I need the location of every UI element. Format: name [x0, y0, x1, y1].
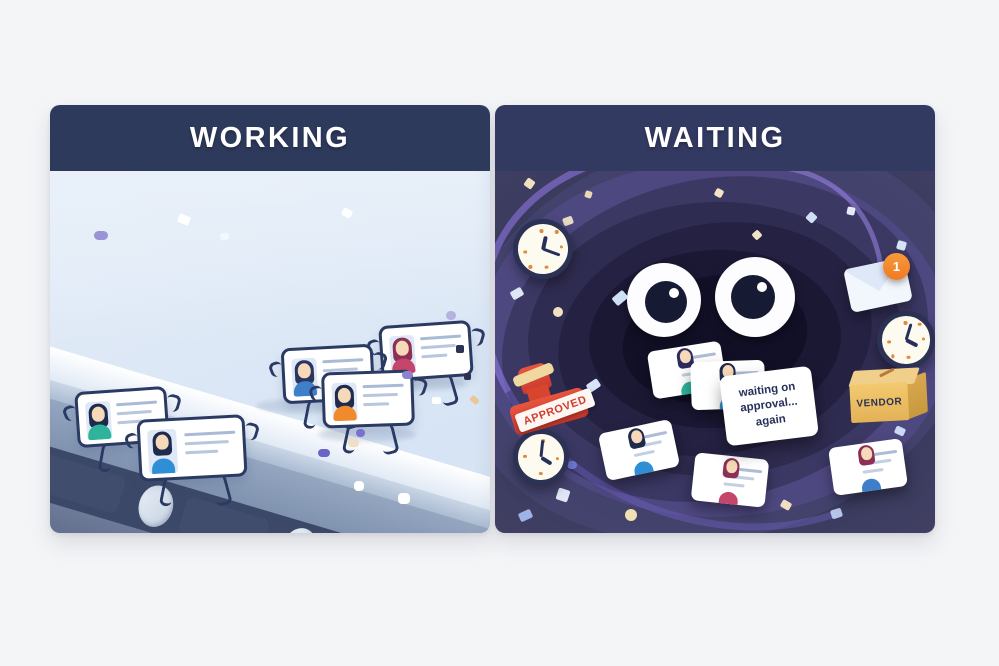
eye-left-icon	[627, 263, 701, 337]
avatar	[331, 382, 357, 421]
confetti	[94, 231, 108, 240]
pupil	[731, 275, 775, 319]
eye-glint	[757, 282, 767, 292]
eye-glint	[669, 288, 679, 298]
waiting-note-card: waiting on approval... again	[719, 366, 819, 447]
clock-minute-hand	[540, 440, 545, 457]
panel-waiting-body: waiting on approval... again APPROVED	[495, 171, 935, 533]
confetti	[432, 397, 441, 404]
card-text-lines	[363, 384, 405, 412]
confetti	[402, 371, 413, 379]
panel-waiting: WAITING	[495, 105, 935, 533]
box-front: VENDOR	[849, 382, 909, 423]
vendor-box-icon: VENDOR	[849, 367, 932, 425]
panel-working: WORKING	[50, 105, 490, 533]
panel-waiting-title: WAITING	[645, 122, 786, 155]
confetti	[553, 307, 563, 317]
waiting-note-text: waiting on approval... again	[721, 377, 818, 434]
card-shadow	[318, 427, 416, 442]
walking-id-card	[136, 414, 247, 482]
avatar	[85, 401, 113, 441]
confetti	[625, 509, 637, 521]
panel-working-body	[50, 171, 490, 533]
avatar	[389, 335, 417, 375]
sucked-id-card	[828, 438, 908, 496]
confetti	[318, 449, 330, 457]
vendor-box-label: VENDOR	[856, 396, 902, 409]
sucked-id-card	[691, 452, 770, 507]
pupil	[645, 281, 687, 323]
panel-working-title: WORKING	[190, 122, 350, 155]
panel-working-header: WORKING	[50, 105, 490, 171]
avatar	[692, 452, 715, 486]
notification-badge: 1	[883, 253, 910, 280]
confetti	[846, 206, 855, 215]
clock-hour-hand	[540, 455, 553, 465]
illustration-canvas: WORKING	[0, 0, 999, 666]
card-text-lines	[184, 431, 236, 461]
working-sky-gradient	[50, 171, 490, 345]
panel-waiting-header: WAITING	[495, 105, 935, 171]
walking-id-card	[321, 369, 415, 428]
confetti	[356, 429, 365, 437]
confetti	[398, 493, 410, 504]
avatar	[828, 446, 852, 480]
avatar	[147, 429, 178, 474]
avatar	[647, 349, 672, 384]
clock-minute-hand	[905, 323, 913, 340]
confetti	[354, 481, 364, 491]
confetti	[446, 311, 456, 320]
eye-right-icon	[715, 257, 795, 337]
confetti	[348, 439, 359, 447]
avatar	[690, 362, 711, 395]
confetti	[456, 345, 464, 353]
confetti	[464, 373, 471, 380]
clock-minute-hand	[542, 248, 560, 257]
